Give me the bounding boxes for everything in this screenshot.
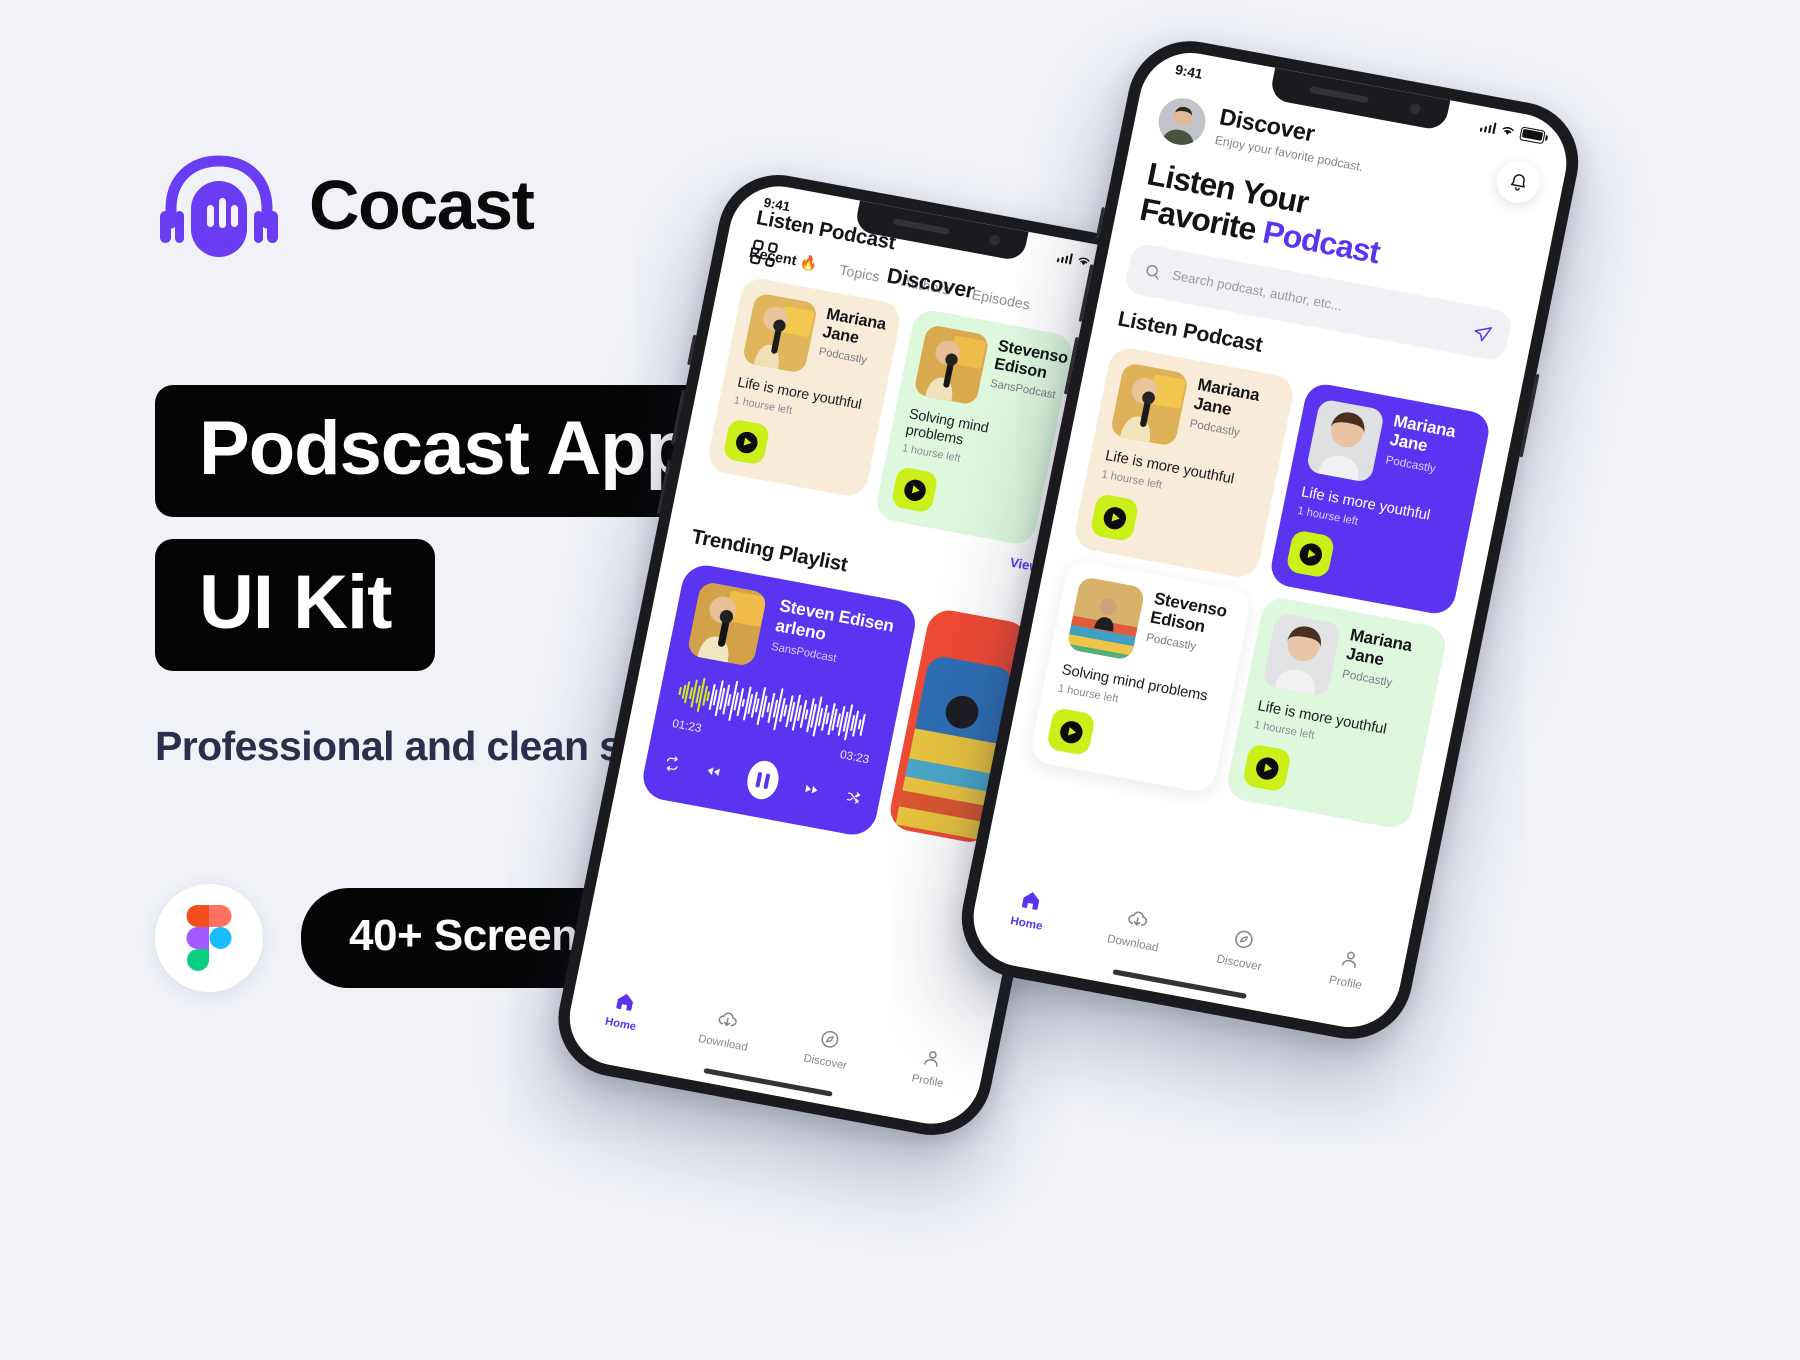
signal-bars-icon [1479, 119, 1496, 133]
podcast-thumbnail [1262, 613, 1341, 698]
home-icon [613, 990, 637, 1014]
search-icon [1142, 261, 1163, 282]
download-icon [1125, 907, 1150, 932]
podcast-thumbnail [1066, 576, 1145, 661]
podcast-thumbnail [1110, 362, 1189, 447]
page-title-left: Discover [885, 264, 976, 304]
shuffle-icon[interactable] [844, 786, 863, 808]
nav-item-home[interactable]: Home [568, 982, 678, 1040]
play-icon[interactable] [1046, 707, 1096, 756]
bottom-nav-left: Home Download Discover Profile [561, 968, 988, 1132]
poster-canvas: Cocast Podscast App UI Kit Professional … [0, 0, 1800, 1360]
brand-name: Cocast [309, 170, 533, 240]
pause-icon[interactable] [744, 758, 782, 802]
nav-item-profile[interactable]: Profile [875, 1039, 985, 1097]
nav-item-download[interactable]: Download [1078, 899, 1193, 959]
repeat-icon[interactable] [663, 752, 682, 774]
status-time: 9:41 [763, 194, 792, 214]
hero-line-2-accent: Podcast [1260, 215, 1383, 271]
bottom-nav-right: Home Download Discover Profile [965, 865, 1409, 1035]
send-filter-icon[interactable] [1471, 321, 1495, 344]
download-icon [716, 1008, 740, 1032]
fast-forward-icon[interactable] [802, 778, 821, 800]
person-icon [1338, 947, 1363, 972]
play-icon[interactable] [1285, 530, 1335, 579]
podcast-card[interactable]: Mariana Jane Podcastly Life is more yout… [705, 276, 903, 499]
bell-icon[interactable] [1493, 157, 1543, 206]
podcast-author: Mariana Jane [821, 306, 886, 353]
nav-item-home[interactable]: Home [972, 880, 1087, 940]
podcast-card[interactable]: Mariana Jane Podcastly Life is more yout… [1268, 381, 1492, 617]
play-icon[interactable] [1242, 743, 1292, 792]
nav-item-discover[interactable]: Discover [773, 1020, 883, 1078]
grid-icon[interactable] [749, 239, 778, 267]
headphones-icon [155, 153, 283, 257]
compass-icon [1231, 927, 1256, 952]
headline-secondary: UI Kit [155, 539, 435, 671]
person-icon [920, 1046, 944, 1070]
brand-logo: Cocast [155, 150, 795, 260]
player-card[interactable]: Steven Edisen arleno SansPodcast [639, 562, 919, 839]
status-time: 9:41 [1174, 61, 1204, 82]
podcast-thumbnail [742, 292, 818, 373]
compass-icon [818, 1027, 842, 1051]
play-icon[interactable] [722, 418, 770, 465]
nav-item-discover[interactable]: Discover [1185, 919, 1300, 979]
nav-item-profile[interactable]: Profile [1291, 939, 1406, 999]
podcast-card[interactable]: Mariana Jane Podcastly Life is more yout… [1072, 345, 1296, 581]
play-icon[interactable] [1089, 493, 1139, 542]
screen-home: 9:41 Discover Enjoy your favorite podcas… [965, 45, 1576, 1036]
player-thumbnail [686, 581, 767, 667]
rewind-icon[interactable] [704, 760, 723, 782]
home-icon [1019, 888, 1044, 913]
podcast-thumbnail [913, 324, 989, 405]
podcast-card[interactable]: Mariana Jane Podcastly Life is more yout… [1224, 595, 1448, 831]
nav-item-download[interactable]: Download [671, 1001, 781, 1059]
figma-icon [155, 884, 263, 992]
headline-primary: Podscast App [155, 385, 735, 517]
podcast-card[interactable]: Stevenso Edison Podcastly Solving mind p… [1028, 559, 1252, 795]
player-current-time: 01:23 [671, 718, 702, 735]
battery-icon [1519, 126, 1546, 144]
phone-mockup-right: 9:41 Discover Enjoy your favorite podcas… [951, 31, 1589, 1049]
wifi-icon [1500, 123, 1517, 137]
podcast-author: Stevenso Edison [992, 337, 1057, 384]
signal-bars-icon [1056, 250, 1073, 264]
podcast-thumbnail [1306, 399, 1385, 484]
play-icon[interactable] [891, 466, 939, 513]
player-total-time: 03:23 [839, 749, 870, 766]
avatar[interactable] [1154, 95, 1209, 149]
